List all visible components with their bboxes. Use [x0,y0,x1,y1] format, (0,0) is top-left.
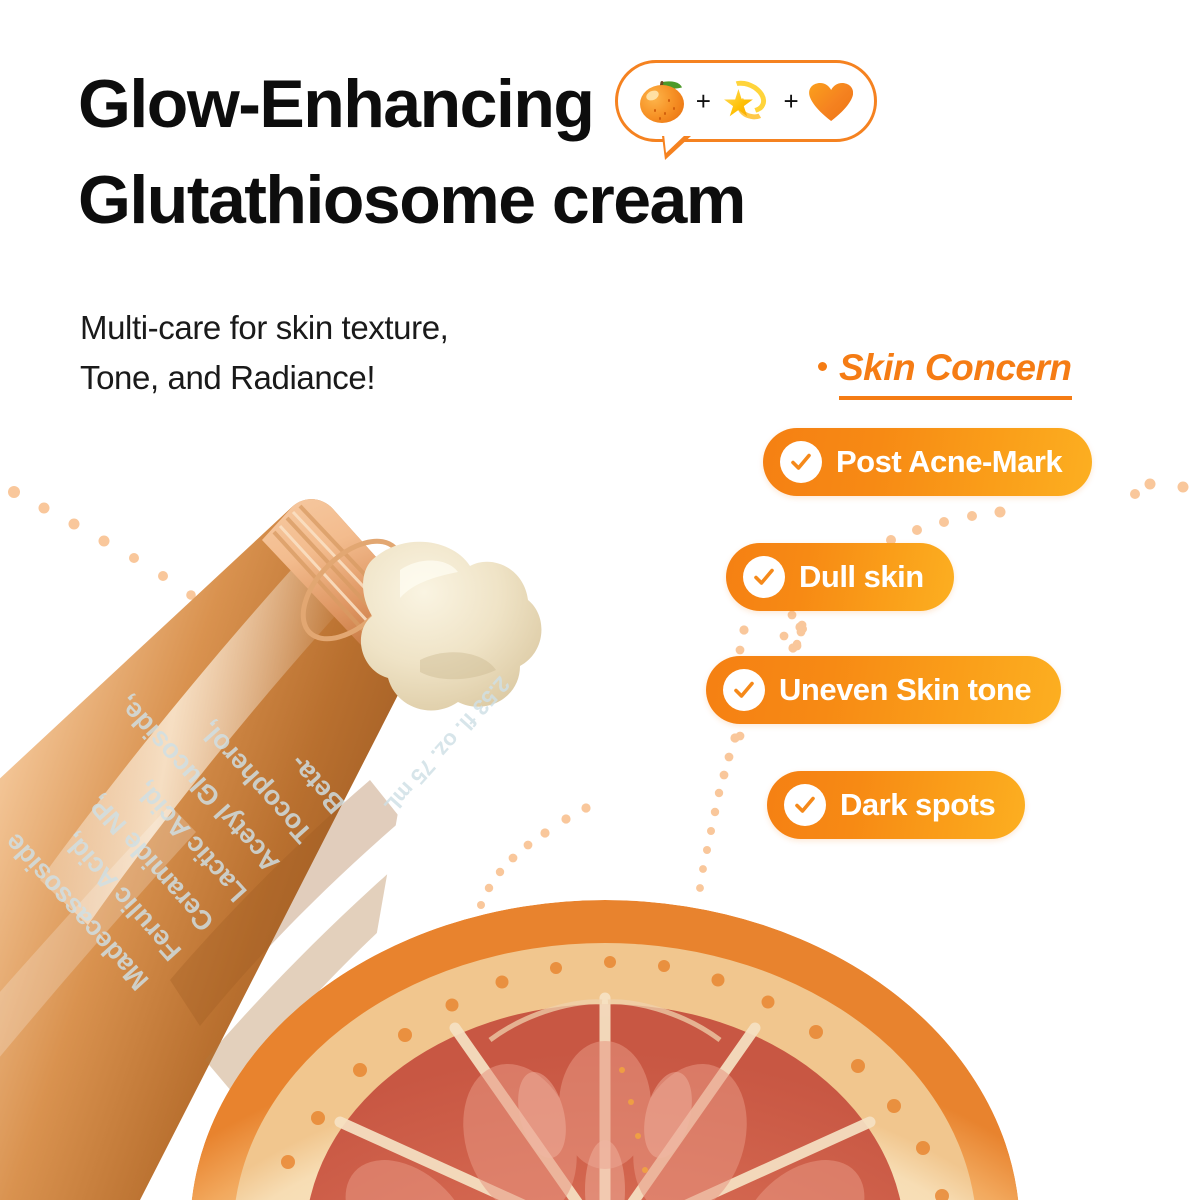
plus-sign-2: + [783,88,797,114]
check-circle-icon [780,441,822,483]
bullet-icon [818,362,827,371]
plus-sign-1: + [696,88,710,114]
grapefruit-slice-image [190,890,1020,1200]
dizzy-star-icon [721,79,771,123]
product-marketing-banner: Glow-Enhancing + + [0,0,1200,1200]
headline-block: Glow-Enhancing + + [78,66,877,234]
subtitle-block: Multi-care for skin texture, Tone, and R… [80,303,448,403]
subtitle-line-1: Multi-care for skin texture, [80,303,448,353]
subtitle-line-2: Tone, and Radiance! [80,353,448,403]
concern-pill-label: Uneven Skin tone [779,672,1031,708]
emoji-speech-bubble: + + [615,60,877,142]
concern-pill-post-acne-mark[interactable]: Post Acne-Mark [763,428,1092,496]
skin-concern-title: Skin Concern [839,347,1072,400]
concern-pill-label: Dull skin [799,559,924,595]
headline-line-2: Glutathiosome cream [78,166,877,234]
concern-pill-dull-skin[interactable]: Dull skin [726,543,954,611]
headline-line-1: Glow-Enhancing [78,70,593,138]
orange-heart-icon [809,81,853,121]
check-circle-icon [784,784,826,826]
skin-concern-heading: Skin Concern [818,347,1072,400]
tangerine-icon [640,79,684,123]
headline-row-1: Glow-Enhancing + + [78,66,877,142]
concern-pill-label: Post Acne-Mark [836,444,1062,480]
concern-pill-label: Dark spots [840,787,995,823]
concern-pill-dark-spots[interactable]: Dark spots [767,771,1025,839]
bubble-tail [662,136,691,160]
